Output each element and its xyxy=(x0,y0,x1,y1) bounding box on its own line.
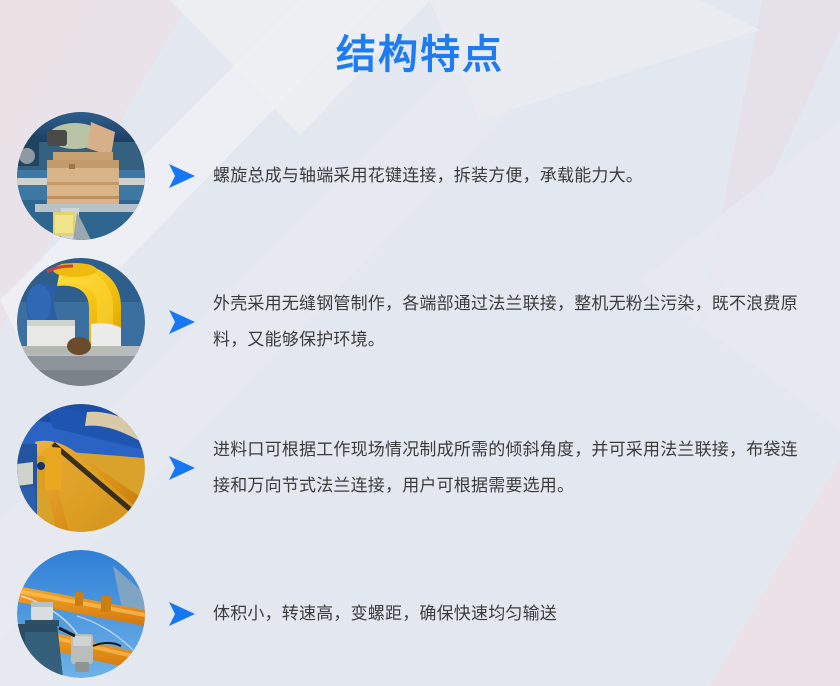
feature-text: 螺旋总成与轴端采用花键连接，拆装方便，承载能力大。 xyxy=(211,158,840,194)
feature-thumbnail-1[interactable] xyxy=(17,112,145,240)
feature-thumbnail-3[interactable] xyxy=(17,404,145,532)
feature-list: 螺旋总成与轴端采用花键连接，拆装方便，承载能力大。 xyxy=(0,103,840,686)
play-arrow-icon xyxy=(167,601,197,627)
feature-arrow-cell-2 xyxy=(153,309,211,335)
screw-conveyor-drive-unit-photo xyxy=(17,112,145,240)
feature-row: 进料口可根据工作现场情况制成所需的倾斜角度，并可采用法兰联接，布袋连接和万向节式… xyxy=(0,395,840,541)
feature-thumbnail-2[interactable] xyxy=(17,258,145,386)
feature-row: 体积小，转速高，变螺距，确保快速均匀输送 xyxy=(0,541,840,686)
play-arrow-icon xyxy=(167,309,197,335)
feature-arrow-cell-3 xyxy=(153,455,211,481)
yellow-elbow-pipe-photo xyxy=(17,258,145,386)
feature-row: 螺旋总成与轴端采用花键连接，拆装方便，承载能力大。 xyxy=(0,103,840,249)
play-arrow-icon xyxy=(167,455,197,481)
orange-pipe-blue-frame-photo xyxy=(17,404,145,532)
play-arrow-icon xyxy=(167,163,197,189)
feature-arrow-cell-1 xyxy=(153,163,211,189)
feature-text: 外壳采用无缝钢管制作，各端部通过法兰联接，整机无粉尘污染，既不浪费原料，又能够保… xyxy=(211,286,837,358)
feature-row: 外壳采用无缝钢管制作，各端部通过法兰联接，整机无粉尘污染，既不浪费原料，又能够保… xyxy=(0,249,840,395)
feature-arrow-cell-4 xyxy=(153,601,211,627)
page-title: 结构特点 xyxy=(0,28,840,82)
feature-thumbnail-4[interactable] xyxy=(17,550,145,678)
structure-features-page: 结构特点 xyxy=(0,0,840,686)
feature-text: 体积小，转速高，变螺距，确保快速均匀输送 xyxy=(211,596,840,632)
orange-conveyor-sky-photo xyxy=(17,550,145,678)
feature-text: 进料口可根据工作现场情况制成所需的倾斜角度，并可采用法兰联接，布袋连接和万向节式… xyxy=(211,432,837,504)
